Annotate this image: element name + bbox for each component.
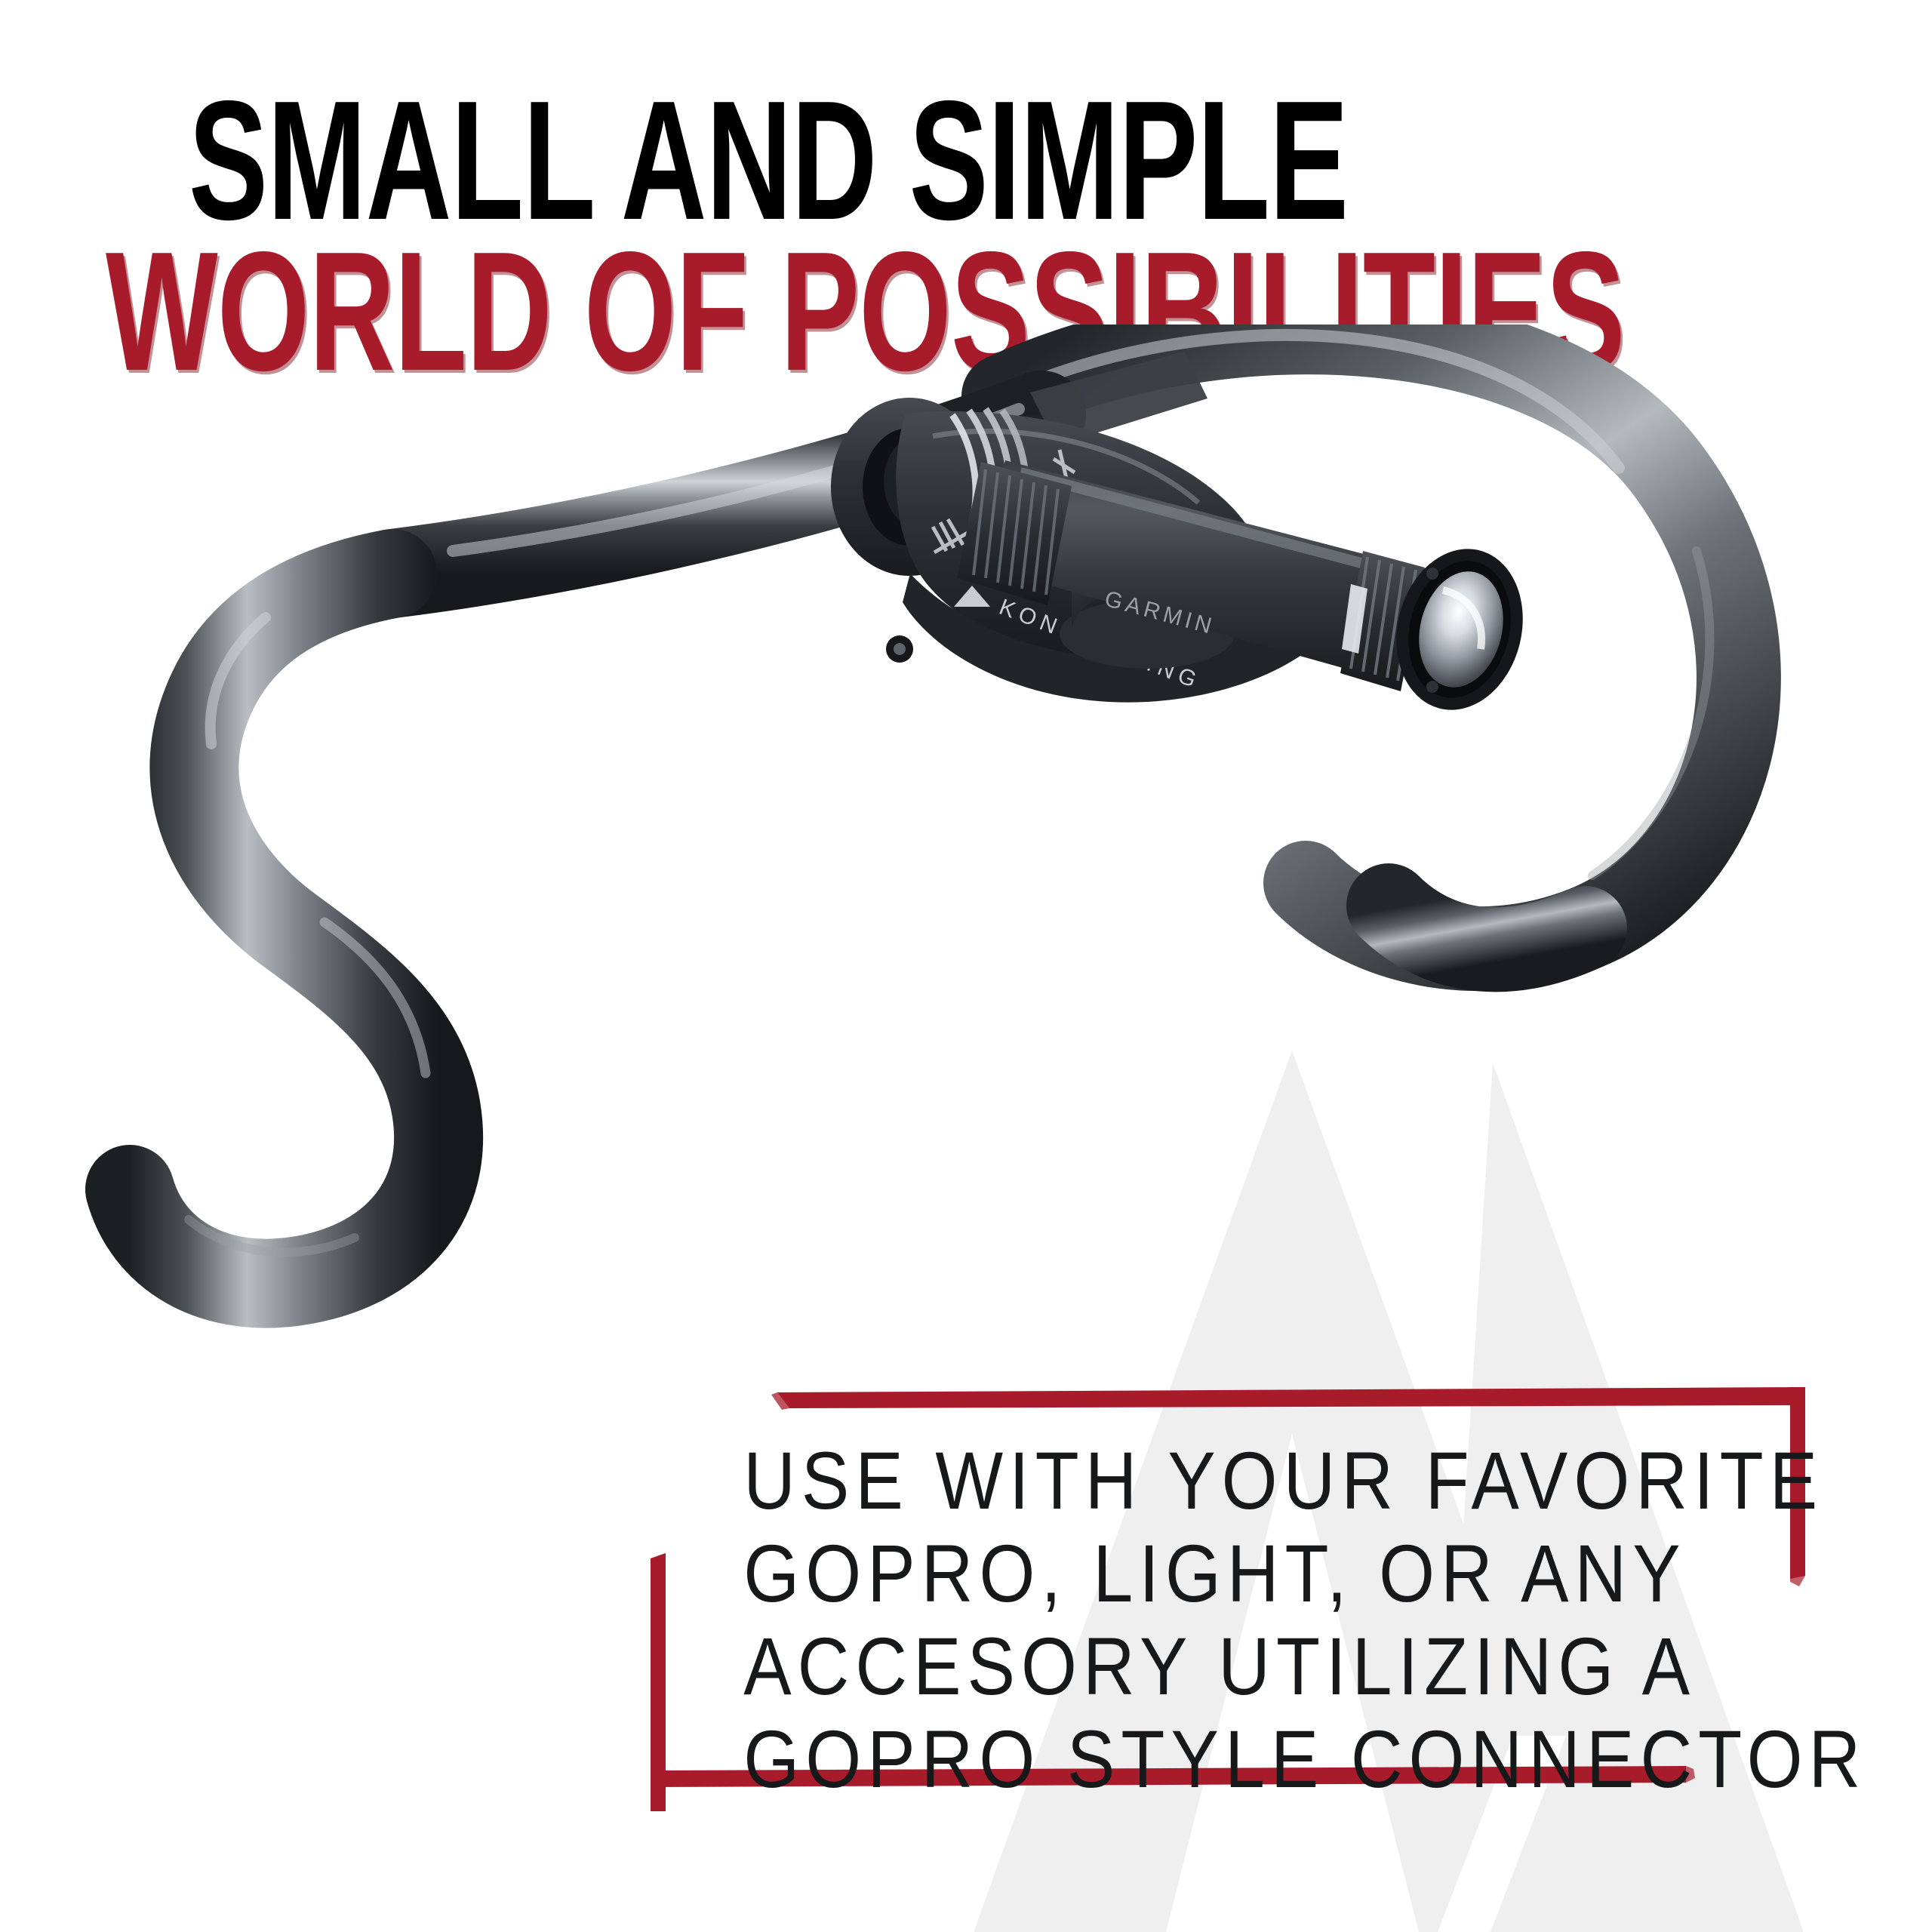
handlebar-right-drop-front <box>1389 906 1585 949</box>
product-photo: KON CYCLING GA <box>0 325 1932 1532</box>
caption-block: USE WITH YOUR FAVORITE GOPRO, LIGHT, OR … <box>679 1434 1751 1805</box>
poster-canvas: SMALL AND SIMPLE WORLD OF POSSIBILITIES <box>0 0 1932 1932</box>
headline-line-1: SMALL AND SIMPLE <box>189 89 1348 232</box>
caption-line-2: GOPRO, LIGHT, OR ANY <box>743 1527 1687 1620</box>
caption-line-3: ACCESORY UTILIZING A <box>743 1620 1687 1712</box>
handlebar-left-reach <box>130 574 438 1284</box>
caption-line-1: USE WITH YOUR FAVORITE <box>743 1434 1687 1527</box>
caption-line-4: GOPRO STYLE CONNECTOR <box>743 1712 1687 1805</box>
